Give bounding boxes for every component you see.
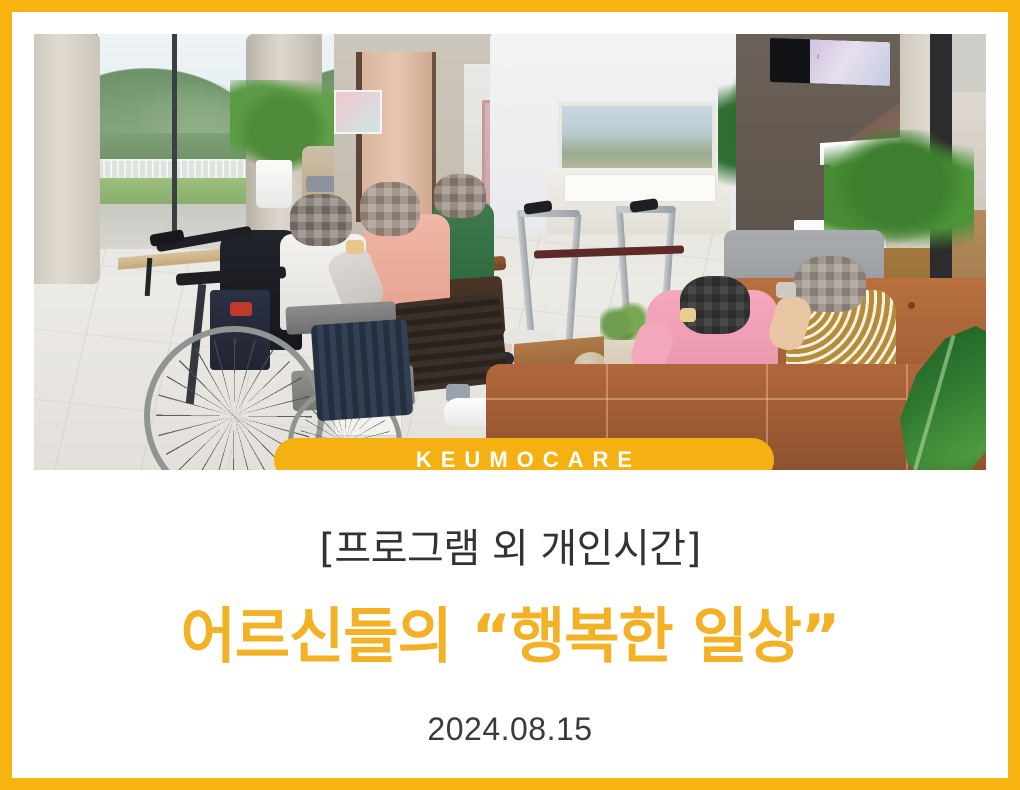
lounge-photograph: ♪ (34, 34, 986, 470)
wall-artwork (334, 90, 382, 134)
wheelchair-bag-logo (230, 302, 252, 316)
tv-screen-content (810, 39, 890, 86)
window-mullion (172, 34, 177, 249)
text-block: [프로그램 외 개인시간] 어르신들의 “행복한 일상” 2024.08.15 (24, 482, 996, 748)
window-left (96, 34, 252, 249)
planter-white (256, 160, 292, 208)
photo-container: ♪ (34, 34, 986, 470)
sofa-tuft (908, 302, 915, 309)
person-green-top-face-blur (434, 174, 486, 218)
tv-caption-text: ♪ (816, 52, 821, 61)
page-title: 어르신들의 “행복한 일상” (24, 574, 996, 675)
person-peach-top-face-blur (360, 182, 420, 236)
wall-tv: ♪ (770, 38, 890, 86)
poster-card: ♪ (0, 0, 1020, 790)
person-pink-shirt-snack (680, 308, 696, 322)
person-wheelchair-snack (346, 240, 364, 254)
desk-poster (564, 174, 716, 202)
person-pink-shirt-head-blur (680, 276, 750, 334)
column-left (34, 34, 100, 284)
person-wheelchair-patterned-lap (311, 319, 413, 421)
brand-pill: KEUMOCARE (274, 438, 774, 470)
date-label: 2024.08.15 (24, 675, 996, 748)
person-floral-top-cup (776, 282, 796, 298)
subtitle: [프로그램 외 개인시간] (24, 482, 996, 574)
brand-name: KEUMOCARE (407, 447, 641, 470)
person-wheelchair-face-blur (290, 194, 352, 246)
